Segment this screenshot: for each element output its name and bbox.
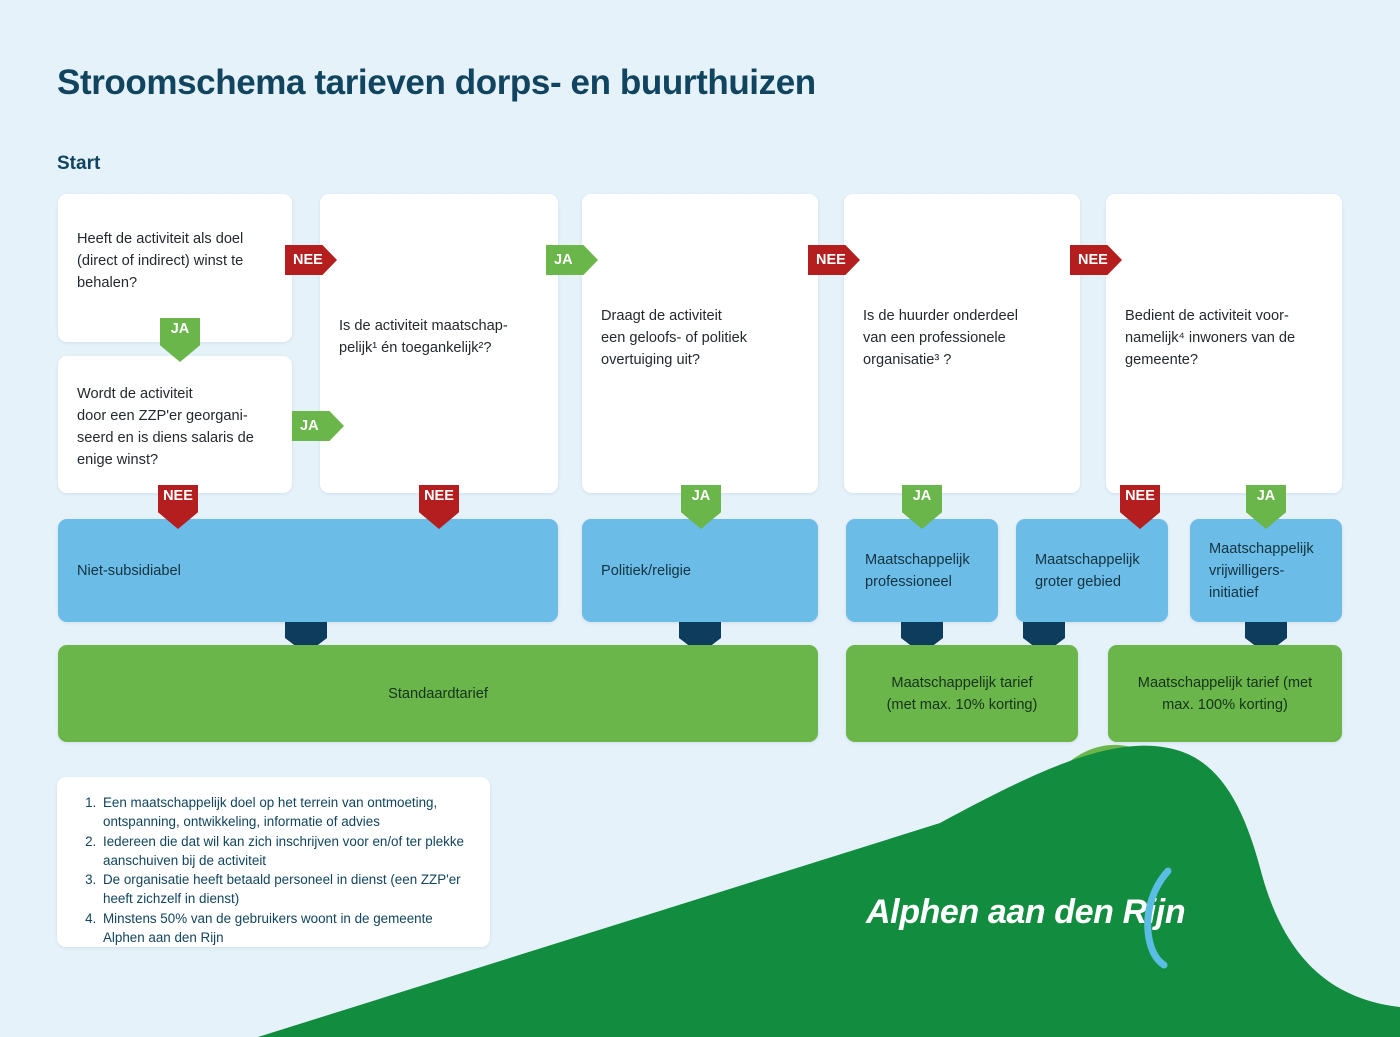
river-swoosh-icon: [1134, 865, 1188, 971]
outcome-maatschappelijk-professioneel-label: Maatschappelijk professioneel: [865, 549, 986, 593]
decision-box-6-text: Bedient de activiteit voor- namelijk⁴ in…: [1125, 305, 1328, 371]
decision-box-2[interactable]: Wordt de activiteit door een ZZP'er geor…: [58, 356, 292, 493]
result-maatschappelijk-tarief-100-label: Maatschappelijk tarief (met max. 100% ko…: [1128, 672, 1322, 716]
outcome-politiek-religie-label: Politiek/religie: [601, 560, 806, 582]
decision-box-4[interactable]: Draagt de activiteit een geloofs- of pol…: [582, 194, 818, 493]
result-standaardtarief-label: Standaardtarief: [378, 683, 498, 705]
decision-box-3-text: Is de activiteit maatschap- pelijk¹ én t…: [339, 315, 544, 359]
footnotes-list: Een maatschappelijk doel op het terrein …: [81, 793, 472, 947]
outcome-maatschappelijk-groter-gebied-label: Maatschappelijk groter gebied: [1035, 549, 1156, 593]
outcome-niet-subsidiabel-label: Niet-subsidiabel: [77, 560, 546, 582]
page-title: Stroomschema tarieven dorps- en buurthui…: [57, 63, 816, 103]
decision-box-4-text: Draagt de activiteit een geloofs- of pol…: [601, 305, 804, 371]
result-maatschappelijk-tarief-100[interactable]: Maatschappelijk tarief (met max. 100% ko…: [1108, 645, 1342, 742]
result-maatschappelijk-tarief-10-label: Maatschappelijk tarief (met max. 10% kor…: [877, 672, 1048, 716]
decision-box-3[interactable]: Is de activiteit maatschap- pelijk¹ én t…: [320, 194, 558, 493]
logo-wrap: Alphen aan den Rijn: [866, 893, 1185, 932]
footnote-item: De organisatie heeft betaald personeel i…: [100, 870, 472, 909]
footnote-item: Minstens 50% van de gebruikers woont in …: [100, 909, 472, 948]
decision-box-2-text: Wordt de activiteit door een ZZP'er geor…: [77, 383, 278, 471]
flowchart-page: Stroomschema tarieven dorps- en buurthui…: [0, 0, 1400, 1037]
decision-box-5[interactable]: Is de huurder onderdeel van een professi…: [844, 194, 1080, 493]
decision-box-6[interactable]: Bedient de activiteit voor- namelijk⁴ in…: [1106, 194, 1342, 493]
municipality-logo: Alphen aan den Rijn: [866, 893, 1185, 955]
outcome-maatschappelijk-vrijwilligersinitiatief[interactable]: Maatschappelijk vrijwilligers- initiatie…: [1190, 519, 1342, 622]
outcome-maatschappelijk-professioneel[interactable]: Maatschappelijk professioneel: [846, 519, 998, 622]
outcome-maatschappelijk-groter-gebied[interactable]: Maatschappelijk groter gebied: [1016, 519, 1168, 622]
footnotes-box: Een maatschappelijk doel op het terrein …: [57, 777, 490, 947]
outcome-politiek-religie[interactable]: Politiek/religie: [582, 519, 818, 622]
decision-box-5-text: Is de huurder onderdeel van een professi…: [863, 305, 1066, 371]
outcome-maatschappelijk-vrijwilligersinitiatief-label: Maatschappelijk vrijwilligers- initiatie…: [1209, 538, 1330, 604]
start-label: Start: [57, 153, 100, 175]
result-maatschappelijk-tarief-10[interactable]: Maatschappelijk tarief (met max. 10% kor…: [846, 645, 1078, 742]
outcome-niet-subsidiabel[interactable]: Niet-subsidiabel: [58, 519, 558, 622]
decision-box-1-text: Heeft de activiteit als doel (direct of …: [77, 228, 278, 294]
footnote-item: Iedereen die dat wil kan zich inschrijve…: [100, 832, 472, 871]
result-standaardtarief[interactable]: Standaardtarief: [58, 645, 818, 742]
footnote-item: Een maatschappelijk doel op het terrein …: [100, 793, 472, 832]
